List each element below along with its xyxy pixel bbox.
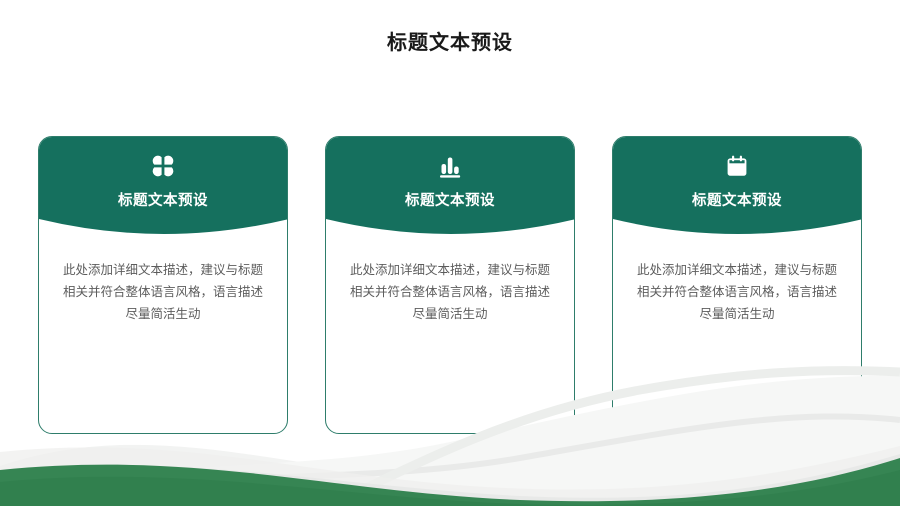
swoosh-ribbon-6 (0, 454, 900, 506)
card-1-title: 标题文本预设 (39, 189, 287, 210)
card-3-title: 标题文本预设 (613, 189, 861, 210)
card-2-header: 标题文本预设 (326, 137, 574, 237)
card-3-body-text: 此处添加详细文本描述，建议与标题相关并符合整体语言风格，语言描述尽量简活生动 (613, 259, 861, 325)
card-2-title: 标题文本预设 (326, 189, 574, 210)
page-title: 标题文本预设 (0, 26, 900, 55)
card-1-header-content: 标题文本预设 (39, 137, 287, 210)
info-card-1[interactable]: 标题文本预设 此处添加详细文本描述，建议与标题相关并符合整体语言风格，语言描述尽… (38, 136, 288, 434)
card-1-body-text: 此处添加详细文本描述，建议与标题相关并符合整体语言风格，语言描述尽量简活生动 (39, 259, 287, 325)
info-card-3[interactable]: 标题文本预设 此处添加详细文本描述，建议与标题相关并符合整体语言风格，语言描述尽… (612, 136, 862, 434)
four-petal-clover-icon (39, 151, 287, 181)
swoosh-ribbon-5 (0, 446, 900, 506)
card-1-header: 标题文本预设 (39, 137, 287, 237)
green-wave-band-shade (0, 470, 900, 506)
card-2-header-content: 标题文本预设 (326, 137, 574, 210)
cards-row: 标题文本预设 此处添加详细文本描述，建议与标题相关并符合整体语言风格，语言描述尽… (0, 136, 900, 436)
card-2-body-text: 此处添加详细文本描述，建议与标题相关并符合整体语言风格，语言描述尽量简活生动 (326, 259, 574, 325)
card-3-header-content: 标题文本预设 (613, 137, 861, 210)
bar-chart-icon (326, 151, 574, 181)
green-wave-band (0, 458, 900, 506)
card-3-header: 标题文本预设 (613, 137, 861, 237)
info-card-2[interactable]: 标题文本预设 此处添加详细文本描述，建议与标题相关并符合整体语言风格，语言描述尽… (325, 136, 575, 434)
slide-canvas: 标题文本预设 标题文本预设 (0, 0, 900, 506)
calendar-icon (613, 151, 861, 181)
